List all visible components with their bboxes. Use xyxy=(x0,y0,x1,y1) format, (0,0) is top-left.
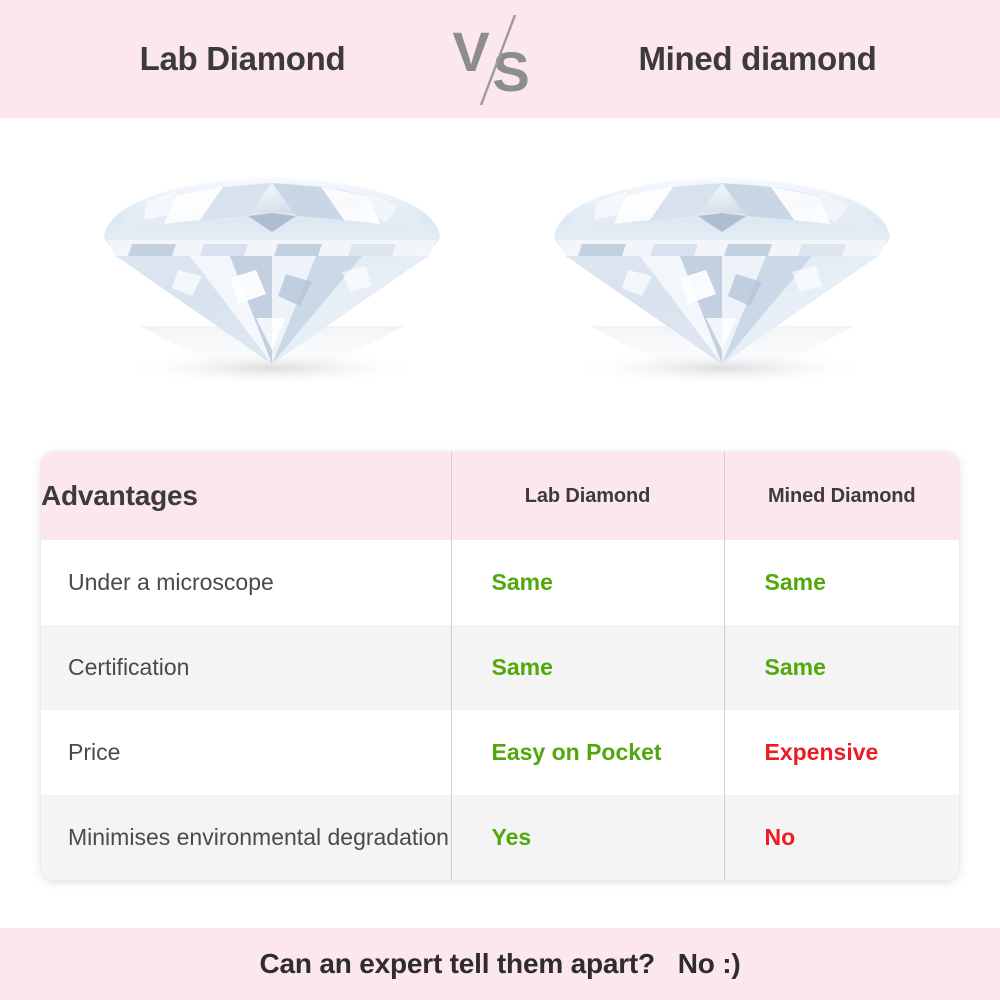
table-row: Certification Same Same xyxy=(41,625,959,710)
footer-band: Can an expert tell them apart? No :) xyxy=(0,928,1000,1000)
svg-text:S: S xyxy=(492,40,529,103)
table-header-row: Advantages Lab Diamond Mined Diamond xyxy=(41,452,959,540)
row-feature-label: Minimises environmental degradation xyxy=(41,795,451,880)
row-mined-value: Same xyxy=(724,540,959,625)
table-row: Minimises environmental degradation Yes … xyxy=(41,795,959,880)
row-feature-label: Price xyxy=(41,710,451,795)
row-lab-value: Easy on Pocket xyxy=(451,710,724,795)
column-header-mined-diamond: Mined Diamond xyxy=(724,452,959,540)
infographic-page: Lab Diamond V S Mined diamond xyxy=(0,0,1000,1000)
table-header: Advantages Lab Diamond Mined Diamond xyxy=(41,452,959,540)
header-title-mined-diamond: Mined diamond xyxy=(548,40,968,78)
footer-question-text: Can an expert tell them apart? No :) xyxy=(260,948,741,980)
row-feature-label: Certification xyxy=(41,625,451,710)
svg-text:V: V xyxy=(453,20,490,83)
row-feature-label: Under a microscope xyxy=(41,540,451,625)
column-header-advantages: Advantages xyxy=(41,452,451,540)
table-row: Under a microscope Same Same xyxy=(41,540,959,625)
header-title-lab-diamond: Lab Diamond xyxy=(33,40,453,78)
header-band: Lab Diamond V S Mined diamond xyxy=(0,0,1000,118)
lab-diamond-photo xyxy=(80,128,460,428)
row-lab-value: Same xyxy=(451,540,724,625)
header-inner: Lab Diamond V S Mined diamond xyxy=(0,9,1000,109)
vs-slash-badge-icon: V S xyxy=(453,9,548,109)
row-lab-value: Yes xyxy=(451,795,724,880)
mined-diamond-photo xyxy=(530,128,910,428)
table-row: Price Easy on Pocket Expensive xyxy=(41,710,959,795)
comparison-table-card: Advantages Lab Diamond Mined Diamond Und… xyxy=(41,452,959,880)
row-mined-value: Same xyxy=(724,625,959,710)
row-mined-value: Expensive xyxy=(724,710,959,795)
diamond-hero-area xyxy=(0,118,1000,438)
row-mined-value: No xyxy=(724,795,959,880)
column-header-lab-diamond: Lab Diamond xyxy=(451,452,724,540)
comparison-table: Advantages Lab Diamond Mined Diamond Und… xyxy=(41,452,959,880)
table-body: Under a microscope Same Same Certificati… xyxy=(41,540,959,880)
row-lab-value: Same xyxy=(451,625,724,710)
